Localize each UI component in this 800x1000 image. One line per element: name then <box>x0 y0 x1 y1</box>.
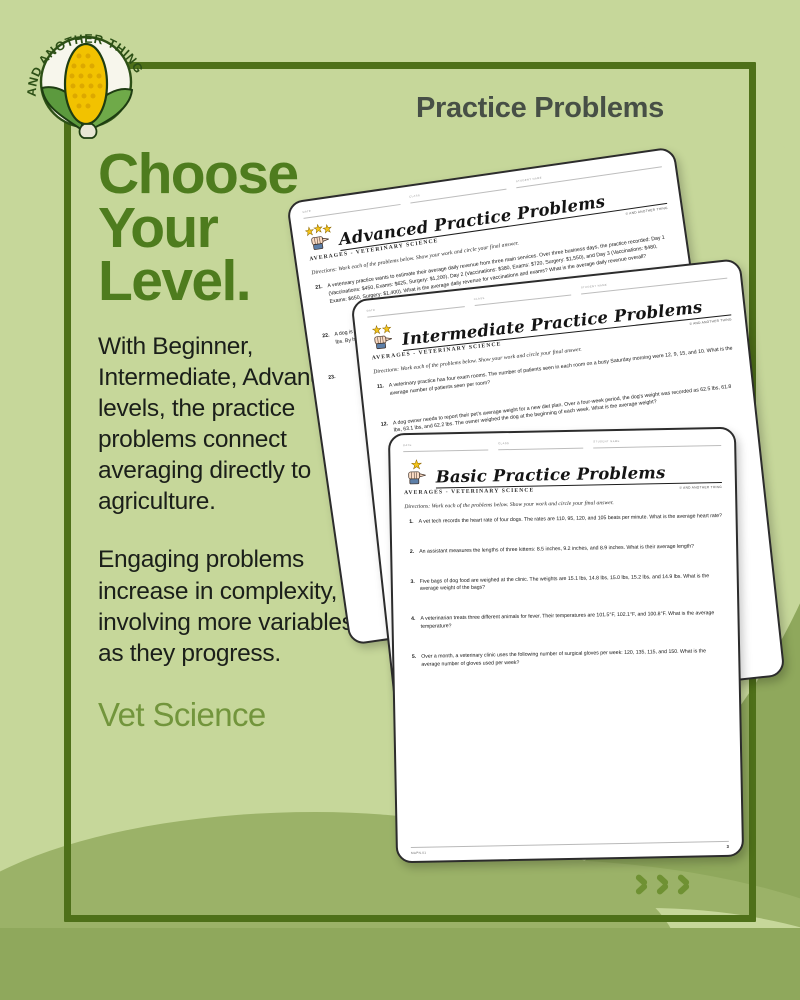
worksheet-subtitle: AVERAGES - VETERINARY SCIENCE <box>404 488 534 497</box>
chevron-right-icon-3 <box>674 872 693 898</box>
footer-code: MAPN.01 <box>411 851 426 855</box>
worksheet-problem-list: 1. A vet tech records the heart rate of … <box>405 513 729 847</box>
worksheet-basic[interactable]: DATE CLASS STUDENT NAME <box>388 427 744 864</box>
problem-item: 3. Five bags of dog food are weighed at … <box>406 573 724 595</box>
footer-page-number: 3 <box>727 844 729 849</box>
background-bottom-strip <box>0 928 800 1000</box>
mascot-hand-stars-icon <box>305 222 336 256</box>
triple-chevron-right-icon[interactable] <box>632 872 693 898</box>
chevron-right-icon-1 <box>632 872 651 898</box>
page-title: Practice Problems <box>360 92 720 125</box>
corn-cob-icon: AND ANOTHER THING <box>22 12 150 142</box>
hero-paragraph-2: Engaging problems increase in complexity… <box>98 544 368 668</box>
worksheet-title-block: Basic Practice Problems <box>403 453 722 489</box>
problem-item: 4. A veterinarian treats three different… <box>406 610 724 632</box>
mascot-hand-stars-icon <box>368 322 398 355</box>
problem-item: 5. Over a month, a veterinary clinic use… <box>407 648 725 670</box>
worksheet-directions: Directions: Work each of the problems be… <box>404 498 722 510</box>
headline-line-1: Choose <box>98 148 368 202</box>
meta-rule <box>498 444 583 451</box>
problem-item: 2. An assistant measures the lengths of … <box>405 543 723 557</box>
poster-canvas: AND ANOTHER THING Practice Problems Choo… <box>0 0 800 1000</box>
meta-date: DATE <box>403 442 488 452</box>
subject-label: Vet Science <box>98 696 368 734</box>
meta-student-name: STUDENT NAME <box>593 438 721 448</box>
brand-logo: AND ANOTHER THING <box>22 12 150 142</box>
worksheet-meta-row: DATE CLASS STUDENT NAME <box>403 438 721 452</box>
worksheet-brandmark: © AND ANOTHER THING <box>679 485 722 490</box>
meta-class: CLASS <box>498 441 583 451</box>
chevron-right-icon-2 <box>653 872 672 898</box>
worksheet-title: Basic Practice Problems <box>436 462 722 486</box>
problem-item: 1. A vet tech records the heart rate of … <box>405 513 723 527</box>
mascot-hand-stars-icon <box>403 459 431 490</box>
meta-rule <box>403 445 488 452</box>
